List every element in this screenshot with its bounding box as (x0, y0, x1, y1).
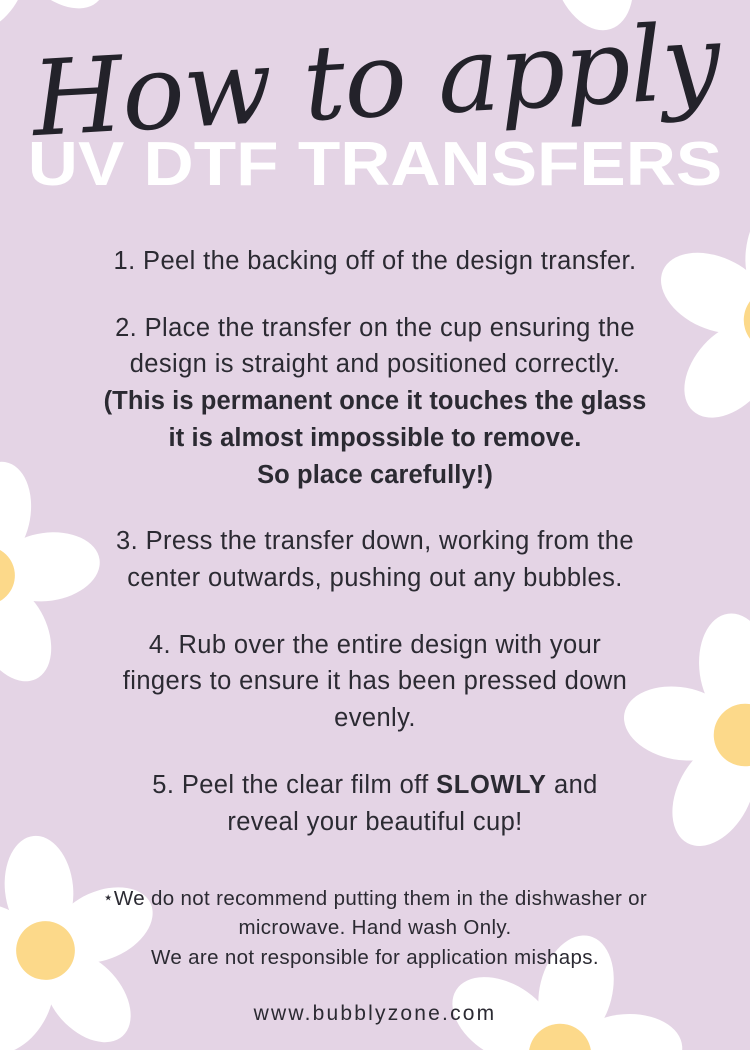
step-4-line-1: 4. Rub over the entire design with your (149, 631, 601, 659)
disclaimer-text-1: We do not recommend putting them in the … (114, 887, 647, 910)
step-4-line-3: evenly. (334, 704, 416, 732)
step-2-line-5: So place carefully!) (257, 461, 493, 489)
poster-header: How to apply UV DTF TRANSFERS (0, 0, 750, 196)
step-5-line-2: reveal your beautiful cup! (227, 808, 522, 836)
step-1-line-1: 1. Peel the backing off of the design tr… (114, 247, 637, 275)
block-headline: UV DTF TRANSFERS (0, 132, 750, 196)
disclaimer-line-3: We are not responsible for application m… (0, 943, 750, 972)
star-icon: ⋆ (103, 888, 114, 907)
website-url[interactable]: www.bubblyzone.com (0, 972, 750, 1026)
step-4: 4. Rub over the entire design with yourf… (0, 627, 750, 737)
step-5-emphasis: SLOWLY (436, 771, 546, 799)
disclaimer-line-1: ⋆We do not recommend putting them in the… (0, 884, 750, 913)
step-3-line-2: center outwards, pushing out any bubbles… (127, 564, 623, 592)
spacer (0, 840, 750, 884)
disclaimer-line-2: microwave. Hand wash Only. (0, 913, 750, 942)
step-2-line-2: design is straight and positioned correc… (130, 350, 621, 378)
step-3: 3. Press the transfer down, working from… (0, 523, 750, 596)
step-2-line-1: 2. Place the transfer on the cup ensurin… (115, 314, 635, 342)
step-2-line-3: (This is permanent once it touches the g… (104, 387, 647, 415)
step-4-line-2: fingers to ensure it has been pressed do… (123, 667, 627, 695)
step-2: 2. Place the transfer on the cup ensurin… (0, 310, 750, 494)
step-2-line-4: it is almost impossible to remove. (169, 424, 582, 452)
step-5: 5. Peel the clear film off SLOWLY andrev… (0, 767, 750, 840)
instructions-body: 1. Peel the backing off of the design tr… (0, 243, 750, 1026)
steps-list: 1. Peel the backing off of the design tr… (0, 243, 750, 840)
poster-canvas: How to apply UV DTF TRANSFERS 1. Peel th… (0, 0, 750, 1050)
step-3-line-1: 3. Press the transfer down, working from… (116, 527, 634, 555)
step-1: 1. Peel the backing off of the design tr… (0, 243, 750, 280)
step-5-line-1: 5. Peel the clear film off SLOWLY and (152, 771, 597, 799)
disclaimer-block: ⋆We do not recommend putting them in the… (0, 884, 750, 971)
